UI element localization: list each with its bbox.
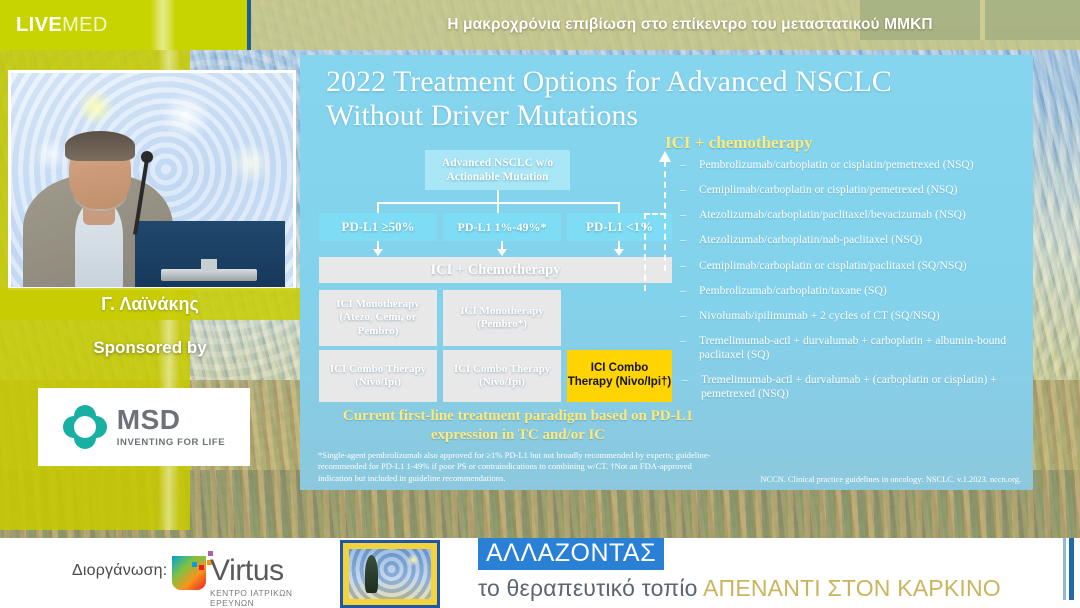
logo-edge-accent xyxy=(247,0,251,50)
campaign-line-2a: το θεραπευτικό τοπίο xyxy=(478,575,703,601)
speaker-video-feed[interactable] xyxy=(8,70,296,290)
drug-text: Atezolizumab/carboplatin/nab-paclitaxel … xyxy=(699,233,922,247)
logo-live-text: LIVE xyxy=(16,14,62,36)
flow-arrow-head-3 xyxy=(614,249,624,256)
slide-footnote: *Single-agent pembrolizumab also approve… xyxy=(318,450,718,484)
drug-text: Cemiplimab/carboplatin or cisplatin/pacl… xyxy=(699,259,967,273)
livemed-logo-text: LIVEMED xyxy=(16,14,108,37)
drug-text: Tremelimumab-actl + durvalumab + (carbop… xyxy=(701,373,1028,401)
speaker-hair xyxy=(65,131,135,161)
list-item: –Pembrolizumab/carboplatin or cisplatin/… xyxy=(680,158,1028,172)
list-item: –Pembrolizumab/carboplatin/taxane (SQ) xyxy=(680,284,1028,298)
drug-text: Pembrolizumab/carboplatin or cisplatin/p… xyxy=(699,158,974,172)
drug-text: Cemiplimab/carboplatin or cisplatin/peme… xyxy=(699,183,958,197)
bullet-dash: – xyxy=(680,284,690,298)
msd-name: MSD xyxy=(117,406,225,434)
msd-clover-icon xyxy=(63,405,107,449)
flow-node-pdl1-mid: PD-L1 1%-49%* xyxy=(443,213,561,241)
flow-node-advanced-nsclc: Advanced NSCLC w/o Actionable Mutation xyxy=(425,150,570,190)
list-item: –Tremelimumab-actl + durvalumab + carbop… xyxy=(680,334,1028,362)
footer-blue-edge xyxy=(1069,538,1074,600)
slide-title: 2022 Treatment Options for Advanced NSCL… xyxy=(326,65,936,133)
flow-connector-center xyxy=(497,202,499,213)
flow-arrow-head-2 xyxy=(497,249,507,256)
slide-source-citation: NCCN. Clinical practice guidelines in on… xyxy=(760,475,1021,484)
session-title: Η μακροχρόνια επιβίωση στο επίκεντρο του… xyxy=(300,0,1080,50)
dashed-arrow-vertical-2 xyxy=(644,213,646,291)
speaker-name-band: Γ. Λαϊνάκης xyxy=(0,288,300,320)
microphone-icon xyxy=(141,151,153,163)
drug-text: Nivolumab/ipilimumab + 2 cycles of CT (S… xyxy=(699,309,940,323)
dashed-arrow-vertical xyxy=(664,161,666,271)
bullet-dash: – xyxy=(680,183,690,197)
virtus-logo[interactable]: Virtus ΚΕΝΤΡΟ ΙΑΤΡΙΚΩΝ ΕΡΕΥΝΩΝ xyxy=(172,550,297,600)
msd-text-block: MSD INVENTING FOR LIFE xyxy=(117,406,225,448)
virtus-wordmark: Virtus xyxy=(210,554,284,588)
drug-text: Atezolizumab/carboplatin/paclitaxel/beva… xyxy=(699,208,966,222)
flow-arrow-head-1 xyxy=(373,249,383,256)
dashed-arrow-horizontal xyxy=(644,213,666,215)
campaign-title-block: ΑΛΛΑΖΟΝΤΑΣ το θεραπευτικό τοπίο ΑΠΕΝΑΝΤΙ… xyxy=(478,538,1038,602)
list-item: –Atezolizumab/carboplatin/nab-paclitaxel… xyxy=(680,233,1028,247)
ici-chemotherapy-heading: ICI + chemotherapy xyxy=(665,133,1025,153)
campaign-line-2b: ΑΠΕΝΑΝΤΙ ΣΤΟΝ ΚΑΡΚΙΝΟ xyxy=(703,575,1001,601)
bullet-dash: – xyxy=(680,233,690,247)
sponsor-logo-card[interactable]: MSD INVENTING FOR LIFE xyxy=(38,388,250,466)
list-item: –Tremelimumab-actl + durvalumab + (carbo… xyxy=(680,373,1028,401)
flow-connector-right xyxy=(618,202,620,213)
bullet-dash: – xyxy=(680,309,690,323)
flow-node-combo-2: ICI Combo Therapy (Nivo/Ipi) xyxy=(443,350,561,402)
campaign-line-1: ΑΛΛΑΖΟΝΤΑΣ xyxy=(478,538,664,570)
flow-node-mono-1: ICI Monotherapy (Atezo, Cemi, or Pembro) xyxy=(319,290,437,346)
footer-blue-edge-light xyxy=(1063,538,1066,600)
bullet-dash: – xyxy=(680,208,690,222)
list-item: –Atezolizumab/carboplatin/paclitaxel/bev… xyxy=(680,208,1028,222)
presentation-slide[interactable]: 2022 Treatment Options for Advanced NSCL… xyxy=(300,55,1033,490)
cypress-tree-shape xyxy=(365,555,378,593)
webinar-screen: Η μακροχρόνια επιβίωση στο επίκεντρο του… xyxy=(0,0,1080,608)
flow-connector-left xyxy=(377,202,379,213)
list-item: –Nivolumab/ipilimumab + 2 cycles of CT (… xyxy=(680,309,1028,323)
dashed-connector-arrow xyxy=(636,151,680,381)
speaker-name: Γ. Λαϊνάκης xyxy=(101,294,199,315)
flow-node-mono-2: ICI Monotherapy (Pembro*) xyxy=(443,290,561,346)
virtus-subtitle: ΚΕΝΤΡΟ ΙΑΤΡΙΚΩΝ ΕΡΕΥΝΩΝ xyxy=(210,588,297,608)
drug-text: Tremelimumab-actl + durvalumab + carbopl… xyxy=(699,334,1028,362)
artwork-thumbnail-image xyxy=(349,549,431,599)
drug-regimen-list: –Pembrolizumab/carboplatin or cisplatin/… xyxy=(680,158,1028,413)
event-artwork-thumbnail xyxy=(340,540,440,608)
bullet-dash: – xyxy=(680,334,690,362)
flow-node-combo-1: ICI Combo Therapy (Nivo/Ipi) xyxy=(319,350,437,402)
bullet-dash: – xyxy=(680,158,690,172)
msd-tagline: INVENTING FOR LIFE xyxy=(117,438,225,448)
flow-node-ici-chemotherapy: ICI + Chemotherapy xyxy=(319,257,672,283)
flow-connector-vertical xyxy=(497,190,499,202)
list-item: –Cemiplimab/carboplatin or cisplatin/pac… xyxy=(680,259,1028,273)
logo-med-text: MED xyxy=(62,14,108,36)
organizer-label: Διοργάνωση: xyxy=(72,562,167,580)
flow-node-pdl1-high: PD-L1 ≥50% xyxy=(319,213,437,241)
campaign-line-2: το θεραπευτικό τοπίο ΑΠΕΝΑΝΤΙ ΣΤΟΝ ΚΑΡΚΙ… xyxy=(478,575,1038,602)
bullet-dash: – xyxy=(680,259,690,273)
list-item: –Cemiplimab/carboplatin or cisplatin/pem… xyxy=(680,183,1028,197)
livemed-logo[interactable]: LIVEMED xyxy=(0,0,247,50)
bullet-dash: – xyxy=(682,373,692,401)
podium-laptop-screen xyxy=(201,259,217,271)
paradigm-statement: Current first-line treatment paradigm ba… xyxy=(318,407,718,445)
sponsored-by-label: Sponsored by xyxy=(0,338,300,358)
drug-text: Pembrolizumab/carboplatin/taxane (SQ) xyxy=(699,284,887,298)
logo-sheen xyxy=(150,0,176,50)
